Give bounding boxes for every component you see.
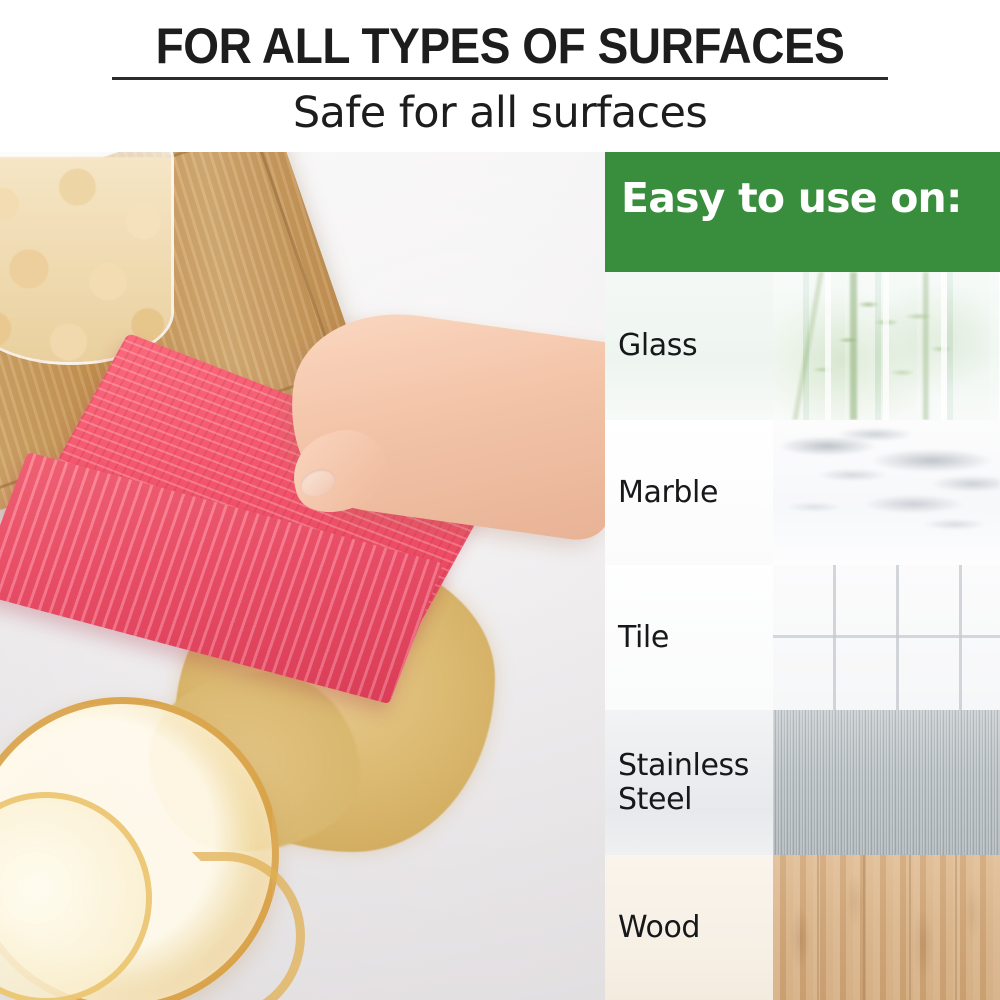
tile-surface-image — [773, 565, 1000, 710]
marble-veining — [773, 420, 1000, 565]
tile-grout-lines — [773, 565, 1000, 710]
header-band: FOR ALL TYPES OF SURFACES Safe for all s… — [0, 0, 1000, 152]
wood-plank-seams — [773, 855, 1000, 1000]
product-photo — [0, 152, 605, 1000]
panel-banner: Easy to use on: — [605, 152, 1000, 272]
title-divider — [112, 77, 888, 80]
brushed-metal-grain — [773, 710, 1000, 855]
list-item-glass: Glass — [605, 272, 1000, 420]
list-item-wood: Wood — [605, 855, 1000, 1000]
surfaces-panel: Easy to use on: Glass — [605, 152, 1000, 1000]
surfaces-list: Glass Marble Tile — [605, 272, 1000, 1000]
page-subtitle: Safe for all surfaces — [0, 88, 1000, 138]
pasta-contents — [0, 157, 174, 365]
page-title: FOR ALL TYPES OF SURFACES — [40, 18, 960, 74]
surface-label-tile: Tile — [618, 621, 669, 655]
surface-label-marble: Marble — [618, 476, 718, 510]
glass-pane-dividers — [773, 272, 1000, 420]
glass-jar-of-pasta — [0, 152, 174, 365]
infographic-page: FOR ALL TYPES OF SURFACES Safe for all s… — [0, 0, 1000, 1000]
surface-label-wood: Wood — [618, 911, 700, 945]
marble-surface-image — [773, 420, 1000, 565]
surface-label-stainless-steel: Stainless Steel — [618, 749, 749, 817]
list-item-tile: Tile — [605, 565, 1000, 710]
wood-surface-image — [773, 855, 1000, 1000]
list-item-stainless-steel: Stainless Steel — [605, 710, 1000, 855]
list-item-marble: Marble — [605, 420, 1000, 565]
panel-banner-label: Easy to use on: — [621, 174, 962, 222]
glass-surface-image — [773, 272, 1000, 420]
stainless-steel-surface-image — [773, 710, 1000, 855]
surface-label-glass: Glass — [618, 329, 697, 363]
